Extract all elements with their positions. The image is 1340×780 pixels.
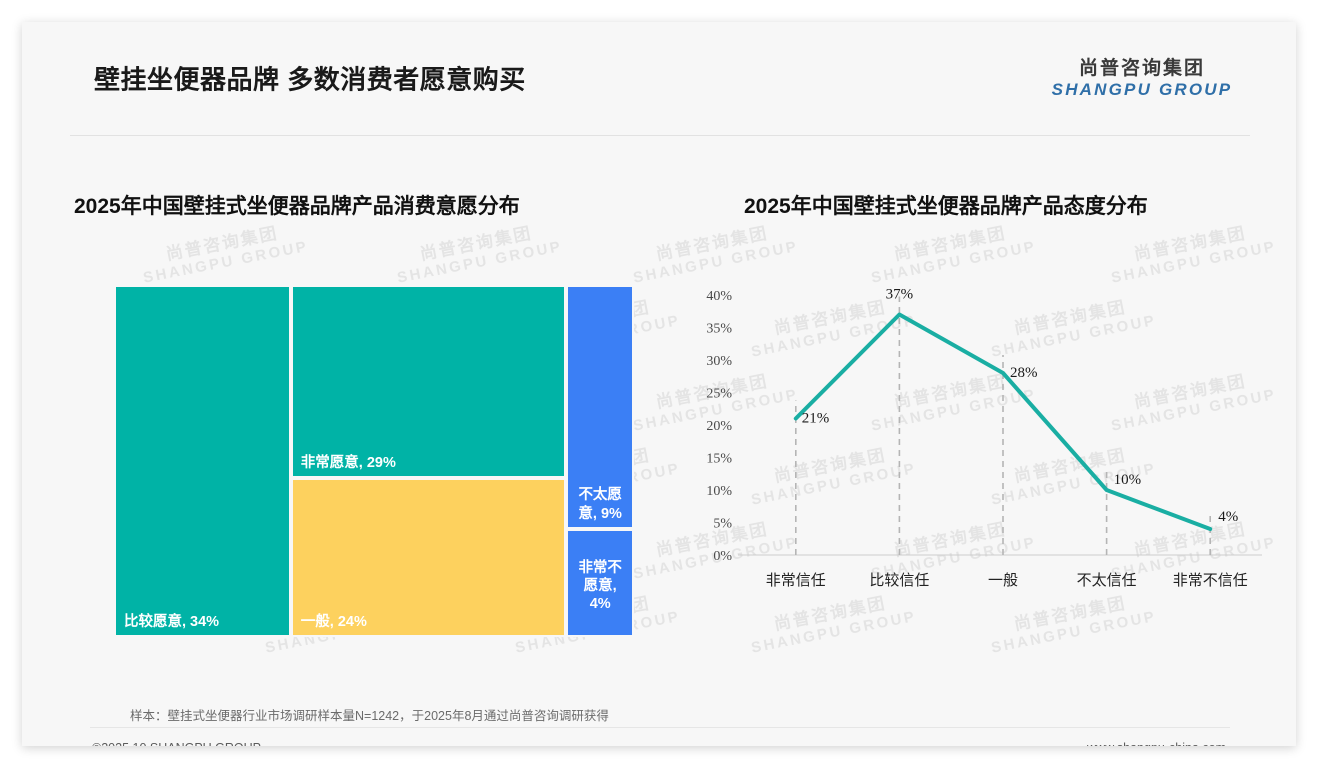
consumption-willingness-treemap: 比较愿意, 34%非常愿意, 29%一般, 24%不太愿意, 9%非常不愿意, … xyxy=(114,285,634,637)
cell-neutral[interactable]: 一般, 24% xyxy=(291,478,567,637)
y-axis-tick-4: 20% xyxy=(706,419,732,434)
x-axis-label-2: 一般 xyxy=(988,572,1018,589)
watermark-chinese: 尚普咨询集团 xyxy=(866,218,1035,270)
cell-prefer-willing[interactable]: 比较愿意, 34% xyxy=(114,285,291,637)
watermark-chinese: 尚普咨询集团 xyxy=(138,218,307,270)
cell-prefer-willing-label: 比较愿意, 34% xyxy=(124,610,219,631)
y-axis-tick-8: 40% xyxy=(706,289,732,304)
watermark-english: SHANGPU GROUP xyxy=(142,238,310,287)
y-axis-tick-6: 30% xyxy=(706,354,732,369)
logo-chinese-text: 尚普咨询集团 xyxy=(1042,58,1242,80)
x-axis-label-0: 非常信任 xyxy=(766,572,826,589)
data-label-2: 28% xyxy=(1010,365,1038,381)
x-axis-label-4: 非常不信任 xyxy=(1173,572,1248,589)
watermark-1: 尚普咨询集团SHANGPU GROUP xyxy=(392,218,564,287)
watermark-chinese: 尚普咨询集团 xyxy=(628,218,797,270)
cell-very-willing[interactable]: 非常愿意, 29% xyxy=(291,285,567,478)
data-label-3: 10% xyxy=(1114,472,1142,488)
slide-header: 壁挂坐便器品牌 多数消费者愿意购买 尚普咨询集团 SHANGPU GROUP xyxy=(22,22,1296,114)
x-axis-label-1: 比较信任 xyxy=(869,571,929,589)
attitude-line-chart: 0%5%10%15%20%25%30%35%40%21%37%28%10%4%非… xyxy=(682,277,1282,617)
website-link[interactable]: www.shangpu-china.com xyxy=(1087,741,1226,746)
x-axis-label-3: 不太信任 xyxy=(1077,572,1137,589)
cell-less-willing[interactable]: 不太愿意, 9% xyxy=(566,285,634,529)
data-label-0: 21% xyxy=(802,411,830,427)
watermark-0: 尚普咨询集团SHANGPU GROUP xyxy=(138,218,310,287)
cell-very-willing-label: 非常愿意, 29% xyxy=(301,451,396,472)
attitude-line-chart-svg: 0%5%10%15%20%25%30%35%40%21%37%28%10%4%非… xyxy=(682,277,1282,617)
page-title: 壁挂坐便器品牌 多数消费者愿意购买 xyxy=(94,60,526,97)
y-axis-tick-2: 10% xyxy=(706,484,732,499)
y-axis-tick-3: 15% xyxy=(706,452,732,467)
cell-very-unwilling[interactable]: 非常不愿意, 4% xyxy=(566,529,634,637)
watermark-english: SHANGPU GROUP xyxy=(396,238,564,287)
y-axis-tick-5: 25% xyxy=(706,387,732,402)
header-divider xyxy=(70,135,1250,136)
right-chart-title: 2025年中国壁挂式坐便器品牌产品态度分布 xyxy=(744,190,1148,220)
y-axis-tick-0: 0% xyxy=(713,549,732,564)
cell-less-willing-label: 不太愿意, 9% xyxy=(568,486,632,522)
copyright-text: ©2025.10 SHANGPU GROUP xyxy=(92,741,261,746)
sample-note: 样本：壁挂式坐便器行业市场调研样本量N=1242，于2025年8月通过尚普咨询调… xyxy=(130,705,609,724)
watermark-chinese: 尚普咨询集团 xyxy=(392,218,561,270)
y-axis-tick-1: 5% xyxy=(713,517,732,532)
watermark-chinese: 尚普咨询集团 xyxy=(1106,218,1275,270)
data-label-4: 4% xyxy=(1218,509,1238,525)
logo-english-text: SHANGPU GROUP xyxy=(1042,80,1242,100)
brand-logo: 尚普咨询集团 SHANGPU GROUP xyxy=(1042,58,1242,99)
cell-very-unwilling-label: 非常不愿意, 4% xyxy=(568,559,632,607)
left-chart-title: 2025年中国壁挂式坐便器品牌产品消费意愿分布 xyxy=(74,190,520,220)
footer-divider xyxy=(90,727,1230,728)
y-axis-tick-7: 35% xyxy=(706,322,732,337)
cell-neutral-label: 一般, 24% xyxy=(301,610,367,631)
data-label-1: 37% xyxy=(886,287,914,303)
slide-canvas: 壁挂坐便器品牌 多数消费者愿意购买 尚普咨询集团 SHANGPU GROUP 尚… xyxy=(22,22,1296,746)
